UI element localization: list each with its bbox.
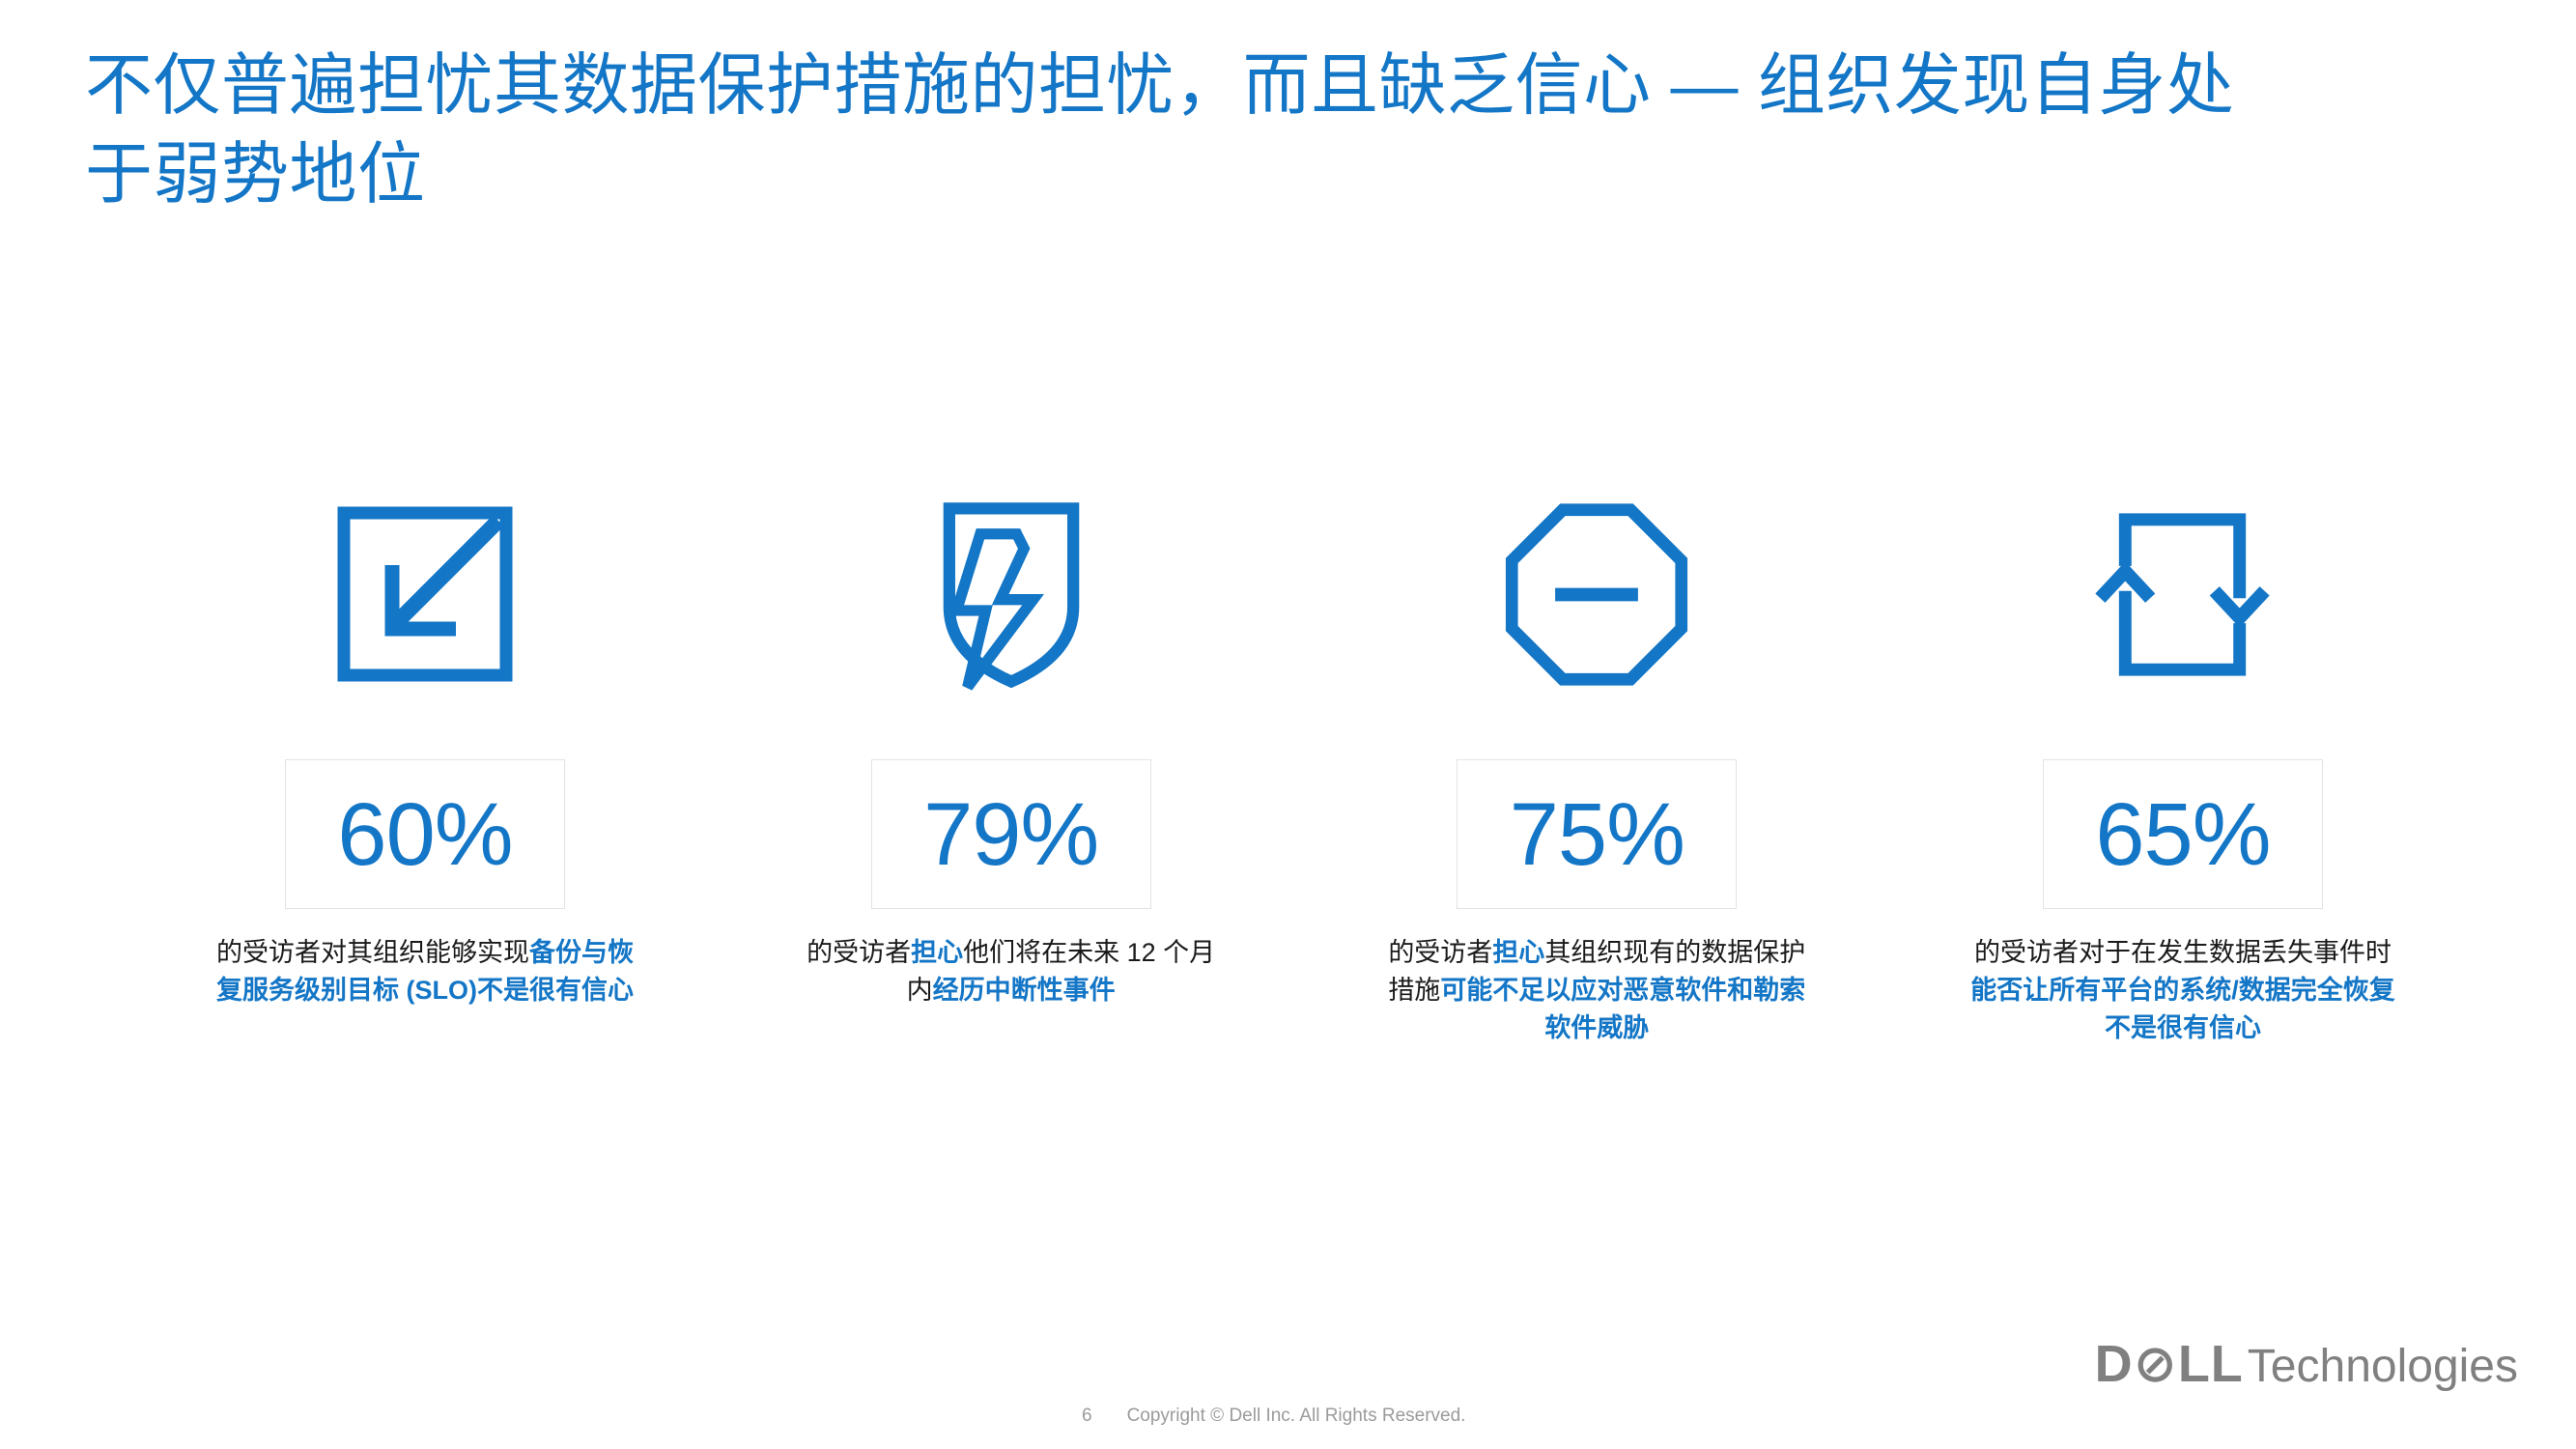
square-refresh-cycle-icon (2093, 483, 2272, 705)
caption-accent-1: 担心 (911, 938, 963, 967)
dell-wordmark: D⊘LL (2095, 1338, 2244, 1390)
stats-row: 60% 的受访者对其组织能够实现备份与恢复服务级别目标 (SLO)不是很有信心 … (145, 483, 2463, 1047)
stat-percent-value: 65% (2095, 790, 2270, 879)
stat-percent-box: 60% (285, 759, 565, 909)
caption-plain-1: 的受访者对于在发生数据丢失事件时 (1974, 938, 2392, 967)
stat-caption: 的受访者对于在发生数据丢失事件时能否让所有平台的系统/数据完全恢复不是很有信心 (1966, 934, 2400, 1047)
page-number: 6 (1082, 1406, 1092, 1427)
stat-caption: 的受访者对其组织能够实现备份与恢复服务级别目标 (SLO)不是很有信心 (208, 934, 642, 1009)
stat-card: 75% 的受访者担心其组织现有的数据保护措施可能不足以应对恶意软件和勒索软件威胁 (1316, 483, 1877, 1047)
stat-card: 60% 的受访者对其组织能够实现备份与恢复服务级别目标 (SLO)不是很有信心 (145, 483, 705, 1009)
caption-accent-2: 可能不足以应对恶意软件和勒索软件威胁 (1440, 976, 1805, 1042)
footer: 6 Copyright © Dell Inc. All Rights Reser… (1082, 1406, 1465, 1427)
technologies-wordmark: Technologies (2248, 1344, 2518, 1390)
page-title: 不仅普遍担忧其数据保护措施的担忧，而且缺乏信心 — 组织发现自身处于弱势地位 (85, 41, 2239, 219)
caption-plain-1: 的受访者对其组织能够实现 (216, 938, 529, 967)
caption-accent-1: 能否让所有平台的系统/数据完全恢复不是很有信心 (1970, 976, 2395, 1042)
caption-plain-1: 的受访者 (1388, 938, 1492, 967)
stat-percent-value: 60% (337, 790, 512, 879)
stat-caption: 的受访者担心其组织现有的数据保护措施可能不足以应对恶意软件和勒索软件威胁 (1379, 934, 1814, 1047)
octagon-minus-icon (1500, 483, 1693, 705)
stat-percent-box: 75% (1457, 759, 1737, 909)
square-arrow-down-left-icon (328, 483, 522, 705)
caption-plain-1: 的受访者 (807, 938, 911, 967)
shield-lightning-icon (920, 483, 1103, 705)
stat-percent-value: 79% (923, 790, 1098, 879)
stat-card: 65% 的受访者对于在发生数据丢失事件时能否让所有平台的系统/数据完全恢复不是很… (1903, 483, 2463, 1047)
caption-accent-1: 担心 (1492, 938, 1544, 967)
stat-percent-box: 65% (2043, 759, 2323, 909)
stat-card: 79% 的受访者担心他们将在未来 12 个月内经历中断性事件 (731, 483, 1291, 1009)
stat-caption: 的受访者担心他们将在未来 12 个月内经历中断性事件 (794, 934, 1229, 1009)
copyright-text: Copyright © Dell Inc. All Rights Reserve… (1127, 1406, 1466, 1427)
caption-accent-2: 经历中断性事件 (933, 976, 1116, 1005)
stat-percent-box: 79% (871, 759, 1151, 909)
stat-percent-value: 75% (1510, 790, 1684, 879)
dell-technologies-logo: D⊘LL Technologies (2095, 1338, 2518, 1390)
